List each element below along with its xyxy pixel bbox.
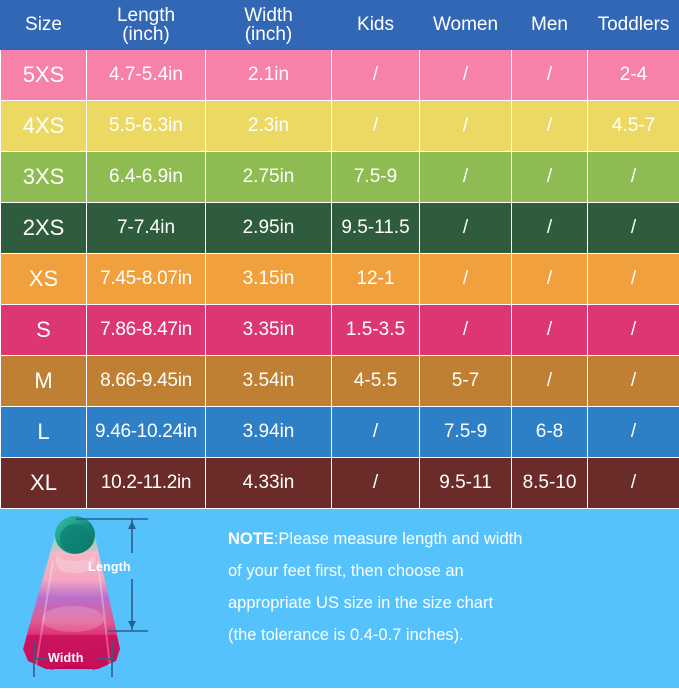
- cell-women: /: [420, 152, 512, 203]
- column-header-women-label: Women: [433, 14, 498, 35]
- width-dimension-label: Width: [48, 651, 84, 665]
- cell-length: 9.46-10.24in: [87, 407, 206, 458]
- column-header-size: Size: [1, 1, 87, 50]
- cell-toddlers: /: [588, 356, 679, 407]
- column-header-women: Women: [420, 1, 512, 50]
- cell-width: 2.3in: [206, 101, 332, 152]
- cell-men: 8.5-10: [512, 458, 588, 509]
- fin-foot-pocket-inner: [60, 524, 90, 552]
- table-row: XL10.2-11.2in4.33in/9.5-118.5-10/: [1, 458, 679, 509]
- column-header-size-label: Size: [25, 14, 62, 35]
- table-row: 5XS4.7-5.4in2.1in///2-4: [1, 50, 679, 101]
- note-text-block: NOTE:Please measure length and width of …: [218, 509, 679, 688]
- column-header-kids-label: Kids: [357, 14, 394, 35]
- column-header-length-unit: (inch): [88, 25, 204, 44]
- cell-women: /: [420, 203, 512, 254]
- note-line-1: NOTE:Please measure length and width: [228, 523, 669, 555]
- cell-width: 2.1in: [206, 50, 332, 101]
- cell-kids: 9.5-11.5: [332, 203, 420, 254]
- cell-toddlers: /: [588, 152, 679, 203]
- cell-kids: /: [332, 101, 420, 152]
- table-row: 3XS6.4-6.9in2.75in7.5-9///: [1, 152, 679, 203]
- note-line-2: of your feet first, then choose an: [228, 555, 669, 587]
- cell-women: /: [420, 254, 512, 305]
- fin-sole-ridge: [42, 606, 104, 632]
- length-dimension-label: Length: [88, 560, 131, 574]
- column-header-width-unit: (inch): [207, 25, 330, 44]
- size-chart-body: 5XS4.7-5.4in2.1in///2-44XS5.5-6.3in2.3in…: [1, 50, 679, 509]
- table-header-row: Size Length (inch) Width (inch) Kids Wom…: [1, 1, 679, 50]
- cell-men: /: [512, 152, 588, 203]
- table-row: XS7.45-8.07in3.15in12-1///: [1, 254, 679, 305]
- cell-width: 3.35in: [206, 305, 332, 356]
- cell-men: /: [512, 203, 588, 254]
- column-header-men-label: Men: [531, 14, 568, 35]
- cell-kids: /: [332, 50, 420, 101]
- cell-width: 2.95in: [206, 203, 332, 254]
- cell-men: 6-8: [512, 407, 588, 458]
- cell-length: 4.7-5.4in: [87, 50, 206, 101]
- length-arrow-up: [128, 521, 136, 529]
- cell-width: 3.15in: [206, 254, 332, 305]
- column-header-width-label: Width: [244, 5, 293, 26]
- cell-men: /: [512, 50, 588, 101]
- note-label: NOTE: [228, 530, 274, 548]
- cell-size: L: [1, 407, 87, 458]
- cell-toddlers: /: [588, 458, 679, 509]
- note-line-3: appropriate US size in the size chart: [228, 587, 669, 619]
- size-chart-table: Size Length (inch) Width (inch) Kids Wom…: [0, 0, 679, 509]
- cell-size: 5XS: [1, 50, 87, 101]
- cell-length: 5.5-6.3in: [87, 101, 206, 152]
- length-arrow-down: [128, 621, 136, 629]
- cell-length: 7.45-8.07in: [87, 254, 206, 305]
- cell-kids: /: [332, 407, 420, 458]
- column-header-toddlers-label: Toddlers: [598, 14, 670, 35]
- cell-size: S: [1, 305, 87, 356]
- fin-diagram: Length Width: [0, 509, 218, 688]
- cell-kids: 12-1: [332, 254, 420, 305]
- cell-size: M: [1, 356, 87, 407]
- cell-width: 4.33in: [206, 458, 332, 509]
- size-chart-page: Size Length (inch) Width (inch) Kids Wom…: [0, 0, 679, 679]
- note-line-4: (the tolerance is 0.4-0.7 inches).: [228, 619, 669, 651]
- table-row: S7.86-8.47in3.35in1.5-3.5///: [1, 305, 679, 356]
- cell-women: /: [420, 50, 512, 101]
- cell-size: 2XS: [1, 203, 87, 254]
- cell-toddlers: /: [588, 407, 679, 458]
- cell-women: 7.5-9: [420, 407, 512, 458]
- cell-toddlers: /: [588, 305, 679, 356]
- cell-women: 9.5-11: [420, 458, 512, 509]
- cell-toddlers: 2-4: [588, 50, 679, 101]
- table-row: 2XS7-7.4in2.95in9.5-11.5///: [1, 203, 679, 254]
- column-header-men: Men: [512, 1, 588, 50]
- column-header-length: Length (inch): [87, 1, 206, 50]
- note-panel: Length Width NOTE:Please measure length …: [0, 509, 679, 688]
- cell-women: /: [420, 101, 512, 152]
- note-line-1-text: :Please measure length and width: [274, 530, 523, 548]
- cell-kids: 4-5.5: [332, 356, 420, 407]
- cell-size: XS: [1, 254, 87, 305]
- cell-toddlers: /: [588, 254, 679, 305]
- cell-men: /: [512, 101, 588, 152]
- cell-length: 8.66-9.45in: [87, 356, 206, 407]
- column-header-length-label: Length: [117, 5, 175, 26]
- table-row: 4XS5.5-6.3in2.3in///4.5-7: [1, 101, 679, 152]
- table-row: L9.46-10.24in3.94in/7.5-96-8/: [1, 407, 679, 458]
- cell-kids: 7.5-9: [332, 152, 420, 203]
- cell-length: 10.2-11.2in: [87, 458, 206, 509]
- cell-toddlers: /: [588, 203, 679, 254]
- cell-size: 4XS: [1, 101, 87, 152]
- cell-width: 3.54in: [206, 356, 332, 407]
- cell-length: 7-7.4in: [87, 203, 206, 254]
- cell-length: 7.86-8.47in: [87, 305, 206, 356]
- cell-men: /: [512, 356, 588, 407]
- cell-size: 3XS: [1, 152, 87, 203]
- cell-width: 2.75in: [206, 152, 332, 203]
- cell-kids: /: [332, 458, 420, 509]
- column-header-width: Width (inch): [206, 1, 332, 50]
- cell-women: 5-7: [420, 356, 512, 407]
- column-header-toddlers: Toddlers: [588, 1, 679, 50]
- table-row: M8.66-9.45in3.54in4-5.55-7//: [1, 356, 679, 407]
- cell-length: 6.4-6.9in: [87, 152, 206, 203]
- cell-toddlers: 4.5-7: [588, 101, 679, 152]
- column-header-kids: Kids: [332, 1, 420, 50]
- swim-fin-illustration: [0, 509, 218, 688]
- cell-men: /: [512, 254, 588, 305]
- cell-kids: 1.5-3.5: [332, 305, 420, 356]
- cell-size: XL: [1, 458, 87, 509]
- cell-women: /: [420, 305, 512, 356]
- cell-men: /: [512, 305, 588, 356]
- cell-width: 3.94in: [206, 407, 332, 458]
